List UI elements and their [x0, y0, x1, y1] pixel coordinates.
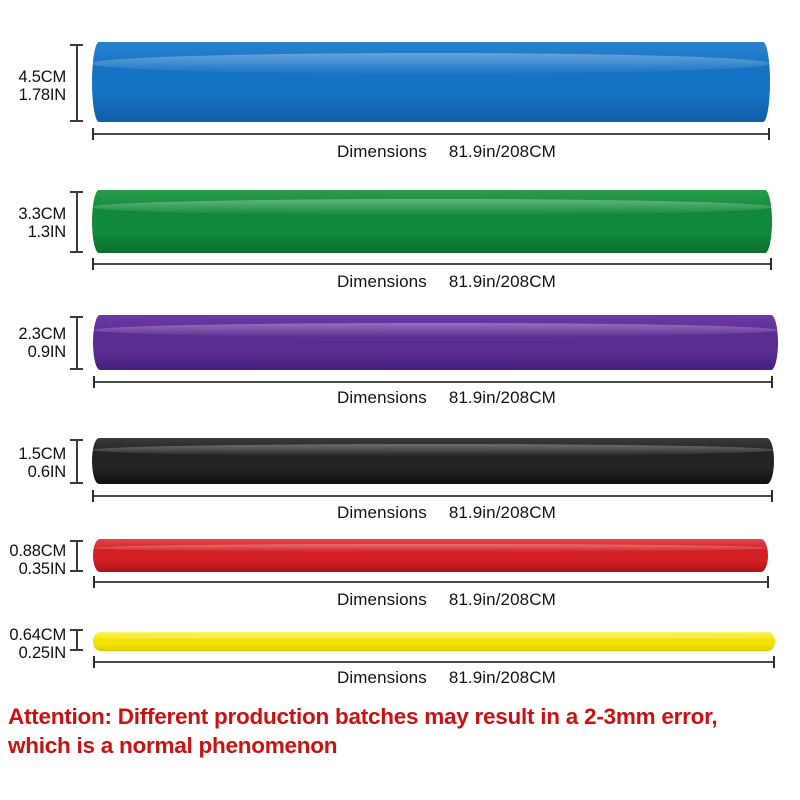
thickness-in-purple: 0.9IN	[4, 343, 66, 361]
length-value-black: 81.9in/208CM	[449, 503, 556, 522]
band-sheen	[92, 199, 772, 215]
resistance-band-green	[92, 190, 772, 253]
band-sheen	[92, 444, 774, 456]
resistance-band-blue	[92, 42, 770, 122]
vertical-dimension-line-green	[70, 191, 83, 253]
dimension-cap-top	[70, 316, 83, 318]
dimension-shaft	[76, 191, 78, 253]
band-row-black: 1.5CM 0.6IN Dimensions81.9in/208CM	[0, 420, 800, 530]
vertical-dimension-line-red	[70, 540, 83, 572]
thickness-in-black: 0.6IN	[4, 463, 66, 481]
length-label-black: Dimensions	[337, 503, 427, 522]
thickness-cm-yellow: 0.64CM	[9, 626, 66, 644]
band-row-purple: 2.3CM 0.9IN Dimensions81.9in/208CM	[0, 300, 800, 420]
thickness-cm-green: 3.3CM	[18, 205, 66, 223]
dimension-tick-left	[93, 656, 95, 668]
thickness-label-purple: 2.3CM 0.9IN	[4, 325, 66, 362]
thickness-in-red: 0.35IN	[0, 560, 66, 578]
attention-notice: Attention: Different production batches …	[8, 703, 798, 761]
dimension-tick-left	[92, 490, 94, 502]
length-dimension-line-yellow	[93, 656, 775, 668]
dimension-shaft	[93, 381, 773, 383]
dimension-cap-bottom	[70, 482, 83, 484]
thickness-label-green: 3.3CM 1.3IN	[4, 205, 66, 242]
resistance-band-purple	[93, 315, 778, 370]
band-row-green: 3.3CM 1.3IN Dimensions81.9in/208CM	[0, 180, 800, 300]
dimension-cap-top	[70, 629, 83, 631]
attention-line-2: which is a normal phenomenon	[8, 732, 798, 761]
dimension-tick-left	[93, 376, 95, 388]
vertical-dimension-line-black	[70, 439, 83, 484]
dimension-chart: 4.5CM 1.78IN Dimensions81.9in/208CM 3.3C…	[0, 0, 800, 800]
thickness-in-green: 1.3IN	[4, 223, 66, 241]
band-sheen	[92, 53, 770, 74]
thickness-in-yellow: 0.25IN	[0, 644, 66, 662]
length-caption-green: Dimensions81.9in/208CM	[337, 272, 556, 292]
dimension-cap-bottom	[70, 649, 83, 651]
length-label-green: Dimensions	[337, 272, 427, 291]
length-label-yellow: Dimensions	[337, 668, 427, 687]
length-dimension-line-red	[93, 576, 769, 588]
length-label-blue: Dimensions	[337, 142, 427, 161]
dimension-tick-right	[767, 576, 769, 588]
dimension-tick-left	[92, 128, 94, 140]
dimension-shaft	[93, 581, 769, 583]
dimension-shaft	[76, 540, 78, 572]
length-dimension-line-black	[92, 490, 773, 502]
length-value-purple: 81.9in/208CM	[449, 388, 556, 407]
dimension-cap-top	[70, 439, 83, 441]
vertical-dimension-line-yellow	[70, 629, 83, 651]
dimension-cap-bottom	[70, 368, 83, 370]
resistance-band-yellow	[93, 632, 775, 651]
length-value-blue: 81.9in/208CM	[449, 142, 556, 161]
length-value-red: 81.9in/208CM	[449, 590, 556, 609]
dimension-shaft	[76, 316, 78, 370]
vertical-dimension-line-purple	[70, 316, 83, 370]
vertical-dimension-line-blue	[70, 44, 83, 122]
dimension-shaft	[93, 661, 775, 663]
dimension-cap-bottom	[70, 251, 83, 253]
dimension-tick-left	[93, 576, 95, 588]
dimension-tick-right	[771, 376, 773, 388]
thickness-cm-red: 0.88CM	[9, 542, 66, 560]
dimension-tick-right	[773, 656, 775, 668]
thickness-cm-blue: 4.5CM	[18, 68, 66, 86]
dimension-tick-right	[768, 128, 770, 140]
dimension-tick-left	[92, 258, 94, 270]
length-caption-purple: Dimensions81.9in/208CM	[337, 388, 556, 408]
length-caption-blue: Dimensions81.9in/208CM	[337, 142, 556, 162]
band-row-blue: 4.5CM 1.78IN Dimensions81.9in/208CM	[0, 0, 800, 180]
dimension-shaft	[92, 495, 773, 497]
band-sheen	[93, 635, 775, 640]
thickness-label-blue: 4.5CM 1.78IN	[4, 68, 66, 105]
thickness-label-yellow: 0.64CM 0.25IN	[0, 626, 66, 663]
length-dimension-line-blue	[92, 128, 770, 140]
dimension-tick-right	[771, 490, 773, 502]
dimension-cap-bottom	[70, 570, 83, 572]
band-sheen	[93, 323, 778, 337]
thickness-cm-purple: 2.3CM	[18, 325, 66, 343]
resistance-band-red	[93, 539, 768, 572]
dimension-tick-right	[770, 258, 772, 270]
thickness-cm-black: 1.5CM	[18, 445, 66, 463]
dimension-shaft	[92, 263, 772, 265]
length-dimension-line-purple	[93, 376, 773, 388]
length-caption-red: Dimensions81.9in/208CM	[337, 590, 556, 610]
band-row-red: 0.88CM 0.35IN Dimensions81.9in/208CM	[0, 530, 800, 630]
dimension-cap-bottom	[70, 120, 83, 122]
length-value-green: 81.9in/208CM	[449, 272, 556, 291]
length-caption-black: Dimensions81.9in/208CM	[337, 503, 556, 523]
dimension-cap-top	[70, 540, 83, 542]
length-label-red: Dimensions	[337, 590, 427, 609]
dimension-shaft	[76, 44, 78, 122]
dimension-cap-top	[70, 44, 83, 46]
length-caption-yellow: Dimensions81.9in/208CM	[337, 668, 556, 688]
length-dimension-line-green	[92, 258, 772, 270]
thickness-label-black: 1.5CM 0.6IN	[4, 445, 66, 482]
attention-line-1: Attention: Different production batches …	[8, 703, 798, 732]
thickness-label-red: 0.88CM 0.35IN	[0, 542, 66, 579]
resistance-band-black	[92, 438, 774, 484]
length-value-yellow: 81.9in/208CM	[449, 668, 556, 687]
dimension-cap-top	[70, 191, 83, 193]
band-row-yellow: 0.64CM 0.25IN Dimensions81.9in/208CM	[0, 618, 800, 708]
band-sheen	[93, 544, 768, 553]
length-label-purple: Dimensions	[337, 388, 427, 407]
thickness-in-blue: 1.78IN	[4, 86, 66, 104]
dimension-shaft	[76, 439, 78, 484]
dimension-shaft	[92, 133, 770, 135]
dimension-shaft	[76, 629, 78, 651]
